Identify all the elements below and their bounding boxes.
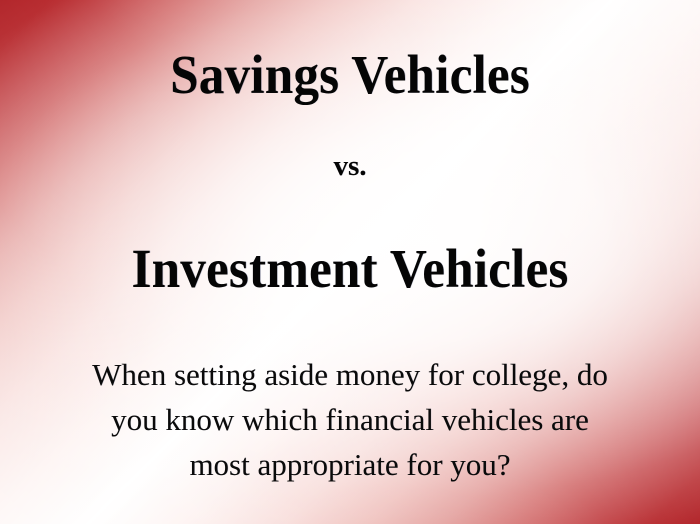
- slide-body-line: you know which financial vehicles are: [28, 397, 672, 442]
- slide-title-savings-vehicles: Savings Vehicles: [25, 44, 676, 106]
- presentation-slide: Savings Vehicles vs. Investment Vehicles…: [0, 0, 700, 524]
- slide-body-text: When setting aside money for college, do…: [28, 352, 672, 487]
- slide-title-investment-vehicles: Investment Vehicles: [25, 238, 676, 300]
- slide-content: Savings Vehicles vs. Investment Vehicles…: [0, 0, 700, 524]
- slide-title-separator-versus: vs.: [0, 148, 700, 184]
- slide-body-line: When setting aside money for college, do: [28, 352, 672, 397]
- slide-body-line: most appropriate for you?: [28, 442, 672, 487]
